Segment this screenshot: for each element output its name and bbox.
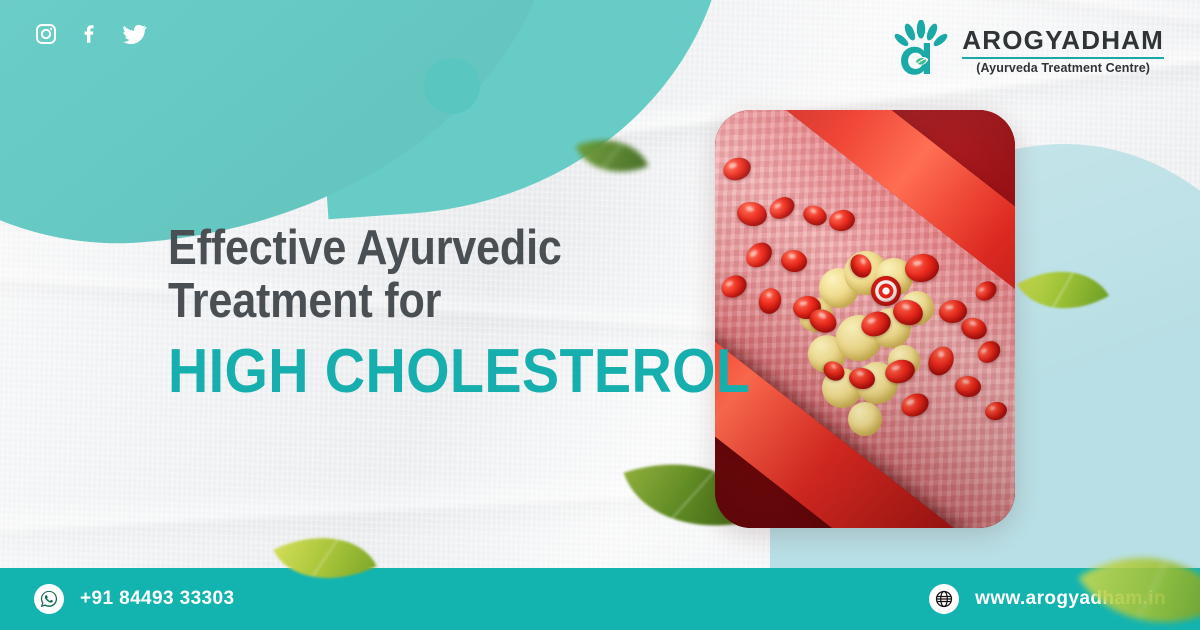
logo-divider [962, 57, 1164, 59]
headline-block: Effective Ayurvedic Treatment for HIGH C… [168, 222, 815, 406]
whatsapp-icon [34, 584, 64, 614]
facebook-icon[interactable] [77, 21, 103, 47]
leaf-monogram-a-icon [890, 20, 952, 82]
brand-logo[interactable]: AROGYADHAM (Ayurveda Treatment Centre) [890, 20, 1164, 82]
headline-emphasis: HIGH CHOLESTEROL [168, 337, 750, 406]
promo-banner: AROGYADHAM (Ayurveda Treatment Centre) E… [0, 0, 1200, 630]
instagram-icon[interactable] [33, 21, 59, 47]
brand-tagline: (Ayurveda Treatment Centre) [962, 61, 1164, 75]
headline-line-2: Treatment for [168, 275, 737, 328]
phone-number: +91 84493 33303 [80, 588, 234, 610]
brand-name: AROGYADHAM [962, 27, 1164, 54]
social-links [33, 21, 147, 47]
contact-footer: +91 84493 33303 www.arogyadham.in [0, 568, 1200, 630]
globe-icon [929, 584, 959, 614]
teal-circle-accent [424, 58, 480, 114]
phone-contact[interactable]: +91 84493 33303 [34, 584, 234, 614]
headline-line-1: Effective Ayurvedic [168, 222, 737, 275]
twitter-icon[interactable] [121, 21, 147, 47]
